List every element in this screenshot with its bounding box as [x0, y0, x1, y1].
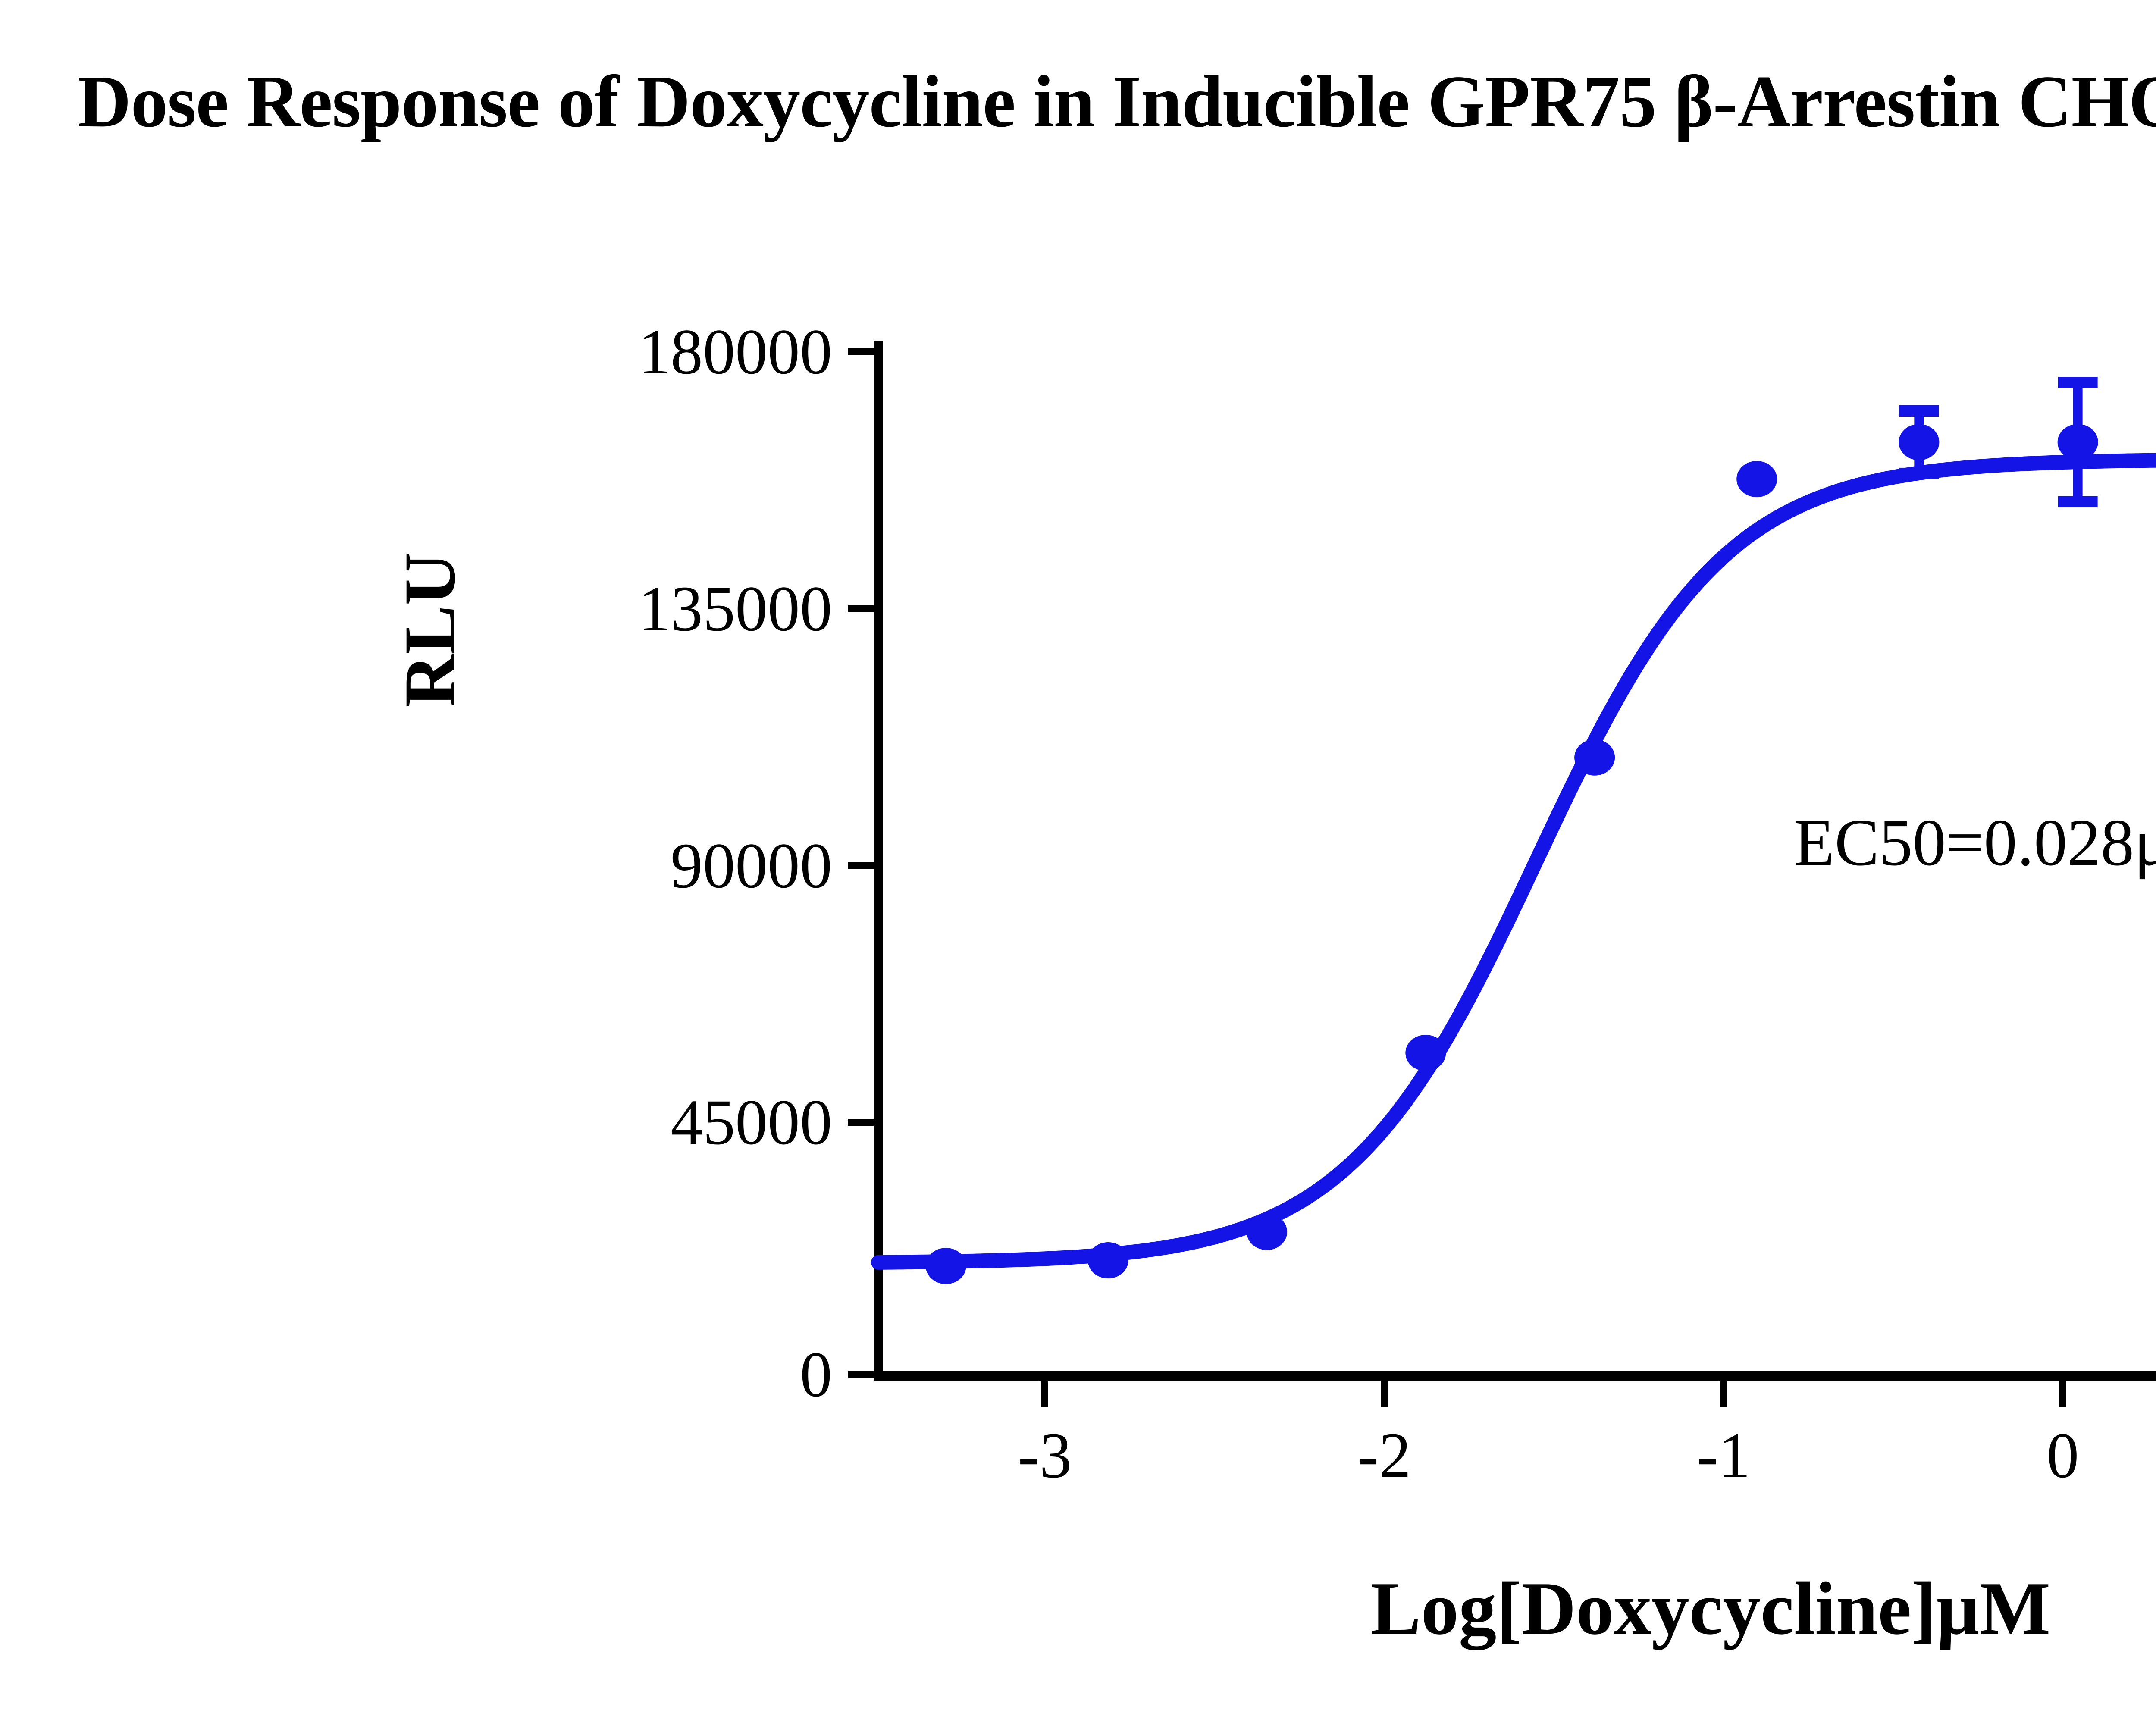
x-tick-neg2 — [1381, 1381, 1388, 1407]
x-tick-label-neg3: -3 — [1018, 1419, 1072, 1493]
y-axis-line — [874, 341, 883, 1381]
error-bars — [1899, 382, 2156, 573]
y-tick-label-45000: 45000 — [671, 1085, 832, 1159]
data-point-marker — [1574, 739, 1615, 776]
data-point-marker — [1247, 1214, 1287, 1250]
data-point-marker — [1405, 1035, 1446, 1071]
y-tick-135000: 135000 — [848, 605, 874, 612]
y-tick-label-180000: 180000 — [638, 315, 832, 389]
x-tick-neg1 — [1720, 1381, 1727, 1407]
data-point-marker — [1899, 424, 1939, 460]
y-tick-45000: 45000 — [848, 1119, 874, 1126]
ec50-annotation: EC50=0.028μM — [1794, 804, 2156, 881]
y-tick-label-90000: 90000 — [671, 829, 832, 903]
y-axis-title: RLU — [388, 552, 472, 707]
x-tick-label-0: 0 — [2047, 1419, 2079, 1493]
x-axis-title-text: Log[Doxycycline]μM — [1224, 1566, 2051, 1650]
page-title: Dose Response of Doxycycline in Inducibl… — [78, 65, 2156, 139]
data-point-marker — [1736, 461, 1777, 497]
data-point-marker — [2058, 424, 2098, 460]
x-tick-neg3 — [1041, 1381, 1048, 1407]
x-tick-label-neg2: -2 — [1357, 1419, 1411, 1493]
data-point-marker — [926, 1248, 966, 1284]
y-tick-0: 0 — [848, 1371, 874, 1378]
y-tick-label-135000: 135000 — [638, 572, 832, 646]
y-tick-180000: 180000 — [848, 348, 874, 355]
data-point-marker — [1088, 1242, 1128, 1278]
y-tick-label-0: 0 — [800, 1337, 832, 1412]
chart-figure: Dose Response of Doxycycline in Inducibl… — [0, 0, 2156, 1735]
x-tick-label-neg1: -1 — [1697, 1419, 1751, 1493]
x-axis-title: Log[Doxycycline]μM — [0, 1565, 2156, 1652]
x-axis-line — [874, 1371, 2156, 1381]
y-tick-90000: 90000 — [848, 862, 874, 869]
x-tick-0 — [2059, 1381, 2066, 1407]
